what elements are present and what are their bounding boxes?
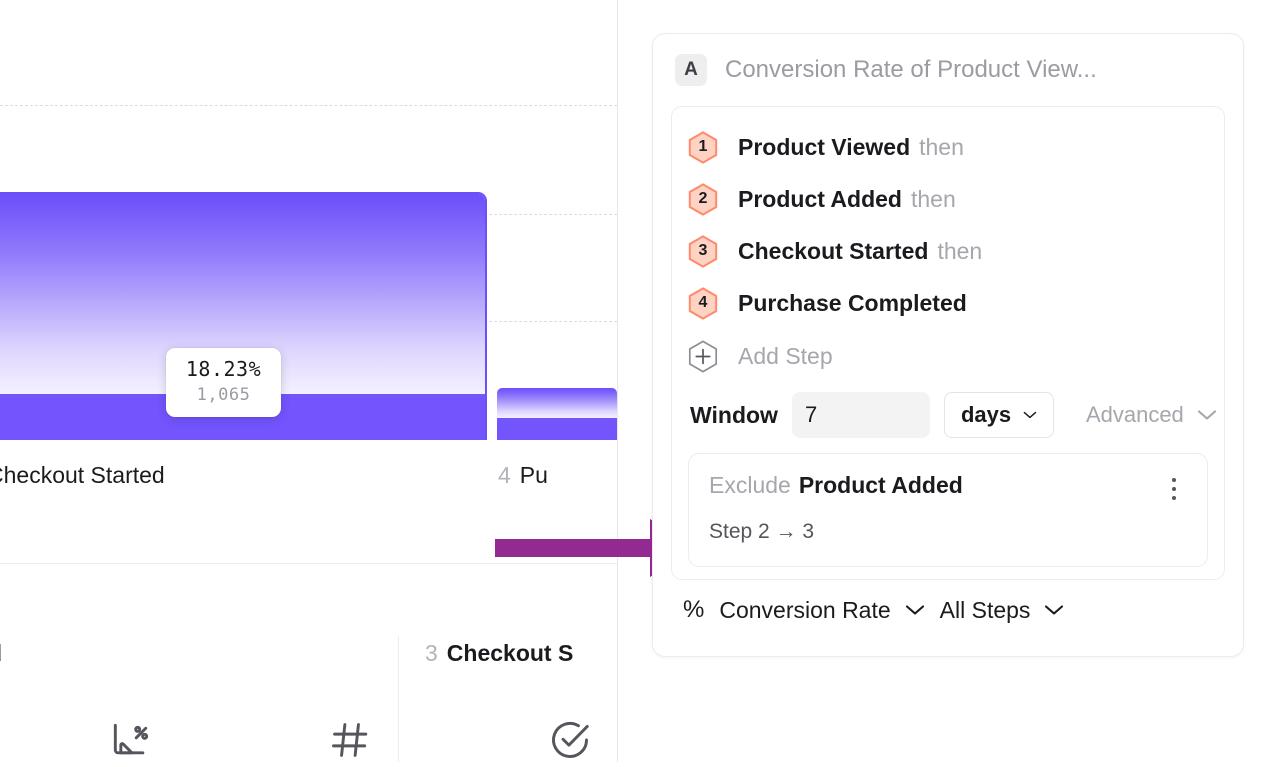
step-event-label: Purchase Completed bbox=[738, 290, 976, 317]
section-divider-vertical bbox=[398, 636, 399, 762]
query-title[interactable]: Conversion Rate of Product View... bbox=[725, 56, 1097, 84]
metric-label: Conversion Rate bbox=[719, 597, 890, 624]
advanced-label: Advanced bbox=[1086, 402, 1184, 428]
step-event-label: Product Viewedthen bbox=[738, 134, 964, 161]
step-row-4[interactable]: 4 Purchase Completed bbox=[688, 277, 1208, 329]
dot bbox=[1172, 487, 1176, 491]
step-hexagon-icon: 3 bbox=[688, 235, 718, 268]
scope-select[interactable]: All Steps bbox=[940, 597, 1065, 624]
lower-card-label-left: d bbox=[0, 640, 2, 667]
panel-footer: % Conversion Rate All Steps bbox=[671, 580, 1225, 640]
window-label: Window bbox=[690, 402, 778, 429]
scope-label: All Steps bbox=[940, 597, 1031, 624]
window-unit-select[interactable]: days bbox=[944, 392, 1054, 438]
funnel-bar-plot bbox=[0, 0, 617, 440]
advanced-toggle[interactable]: Advanced bbox=[1086, 402, 1217, 428]
step-event-name: Product Added bbox=[738, 186, 902, 212]
hash-icon[interactable] bbox=[328, 718, 372, 767]
step-connector: then bbox=[937, 238, 982, 264]
chevron-down-icon bbox=[1044, 604, 1064, 616]
lower-card-step-index: 3 bbox=[425, 640, 438, 666]
x-axis-label-text: Pu bbox=[520, 462, 548, 488]
exclude-prefix-label: Exclude bbox=[709, 472, 791, 498]
step-number: 1 bbox=[699, 139, 708, 155]
window-value-input[interactable] bbox=[792, 392, 930, 438]
tooltip-count: 1,065 bbox=[166, 385, 281, 405]
metric-select[interactable]: Conversion Rate bbox=[719, 597, 924, 624]
exclude-event-name: Product Added bbox=[799, 472, 963, 498]
add-step-hexagon-plus-icon bbox=[688, 340, 718, 373]
window-row: Window days Advanced bbox=[688, 383, 1208, 447]
x-axis-label-checkout-started: Checkout Started bbox=[0, 462, 165, 489]
dot bbox=[1172, 496, 1176, 500]
percent-icon: % bbox=[683, 596, 704, 624]
pane-divider bbox=[617, 0, 618, 762]
exclude-step-card[interactable]: ExcludeProduct Added Step 2 → 3 bbox=[688, 453, 1208, 567]
bar-gradient-segment bbox=[497, 388, 617, 418]
tooltip-percent: 18.23% bbox=[166, 358, 281, 381]
step-number: 4 bbox=[699, 295, 708, 311]
check-circle-icon[interactable] bbox=[548, 718, 592, 767]
series-badge[interactable]: A bbox=[675, 54, 707, 86]
x-axis-label-purchase-completed: 4Pu bbox=[498, 462, 548, 489]
exclude-card-header: ExcludeProduct Added bbox=[709, 472, 1187, 500]
step-event-label: Checkout Startedthen bbox=[738, 238, 982, 265]
add-step-label: Add Step bbox=[738, 343, 833, 370]
x-axis-step-index: 4 bbox=[498, 462, 511, 488]
window-unit-label: days bbox=[961, 402, 1011, 428]
step-hexagon-icon: 2 bbox=[688, 183, 718, 216]
step-row-1[interactable]: 1 Product Viewedthen bbox=[688, 121, 1208, 173]
step-connector: then bbox=[919, 134, 964, 160]
step-event-name: Product Viewed bbox=[738, 134, 910, 160]
step-hexagon-icon: 1 bbox=[688, 131, 718, 164]
section-divider-horizontal bbox=[0, 563, 617, 564]
dot bbox=[1172, 478, 1176, 482]
step-event-label: Product Addedthen bbox=[738, 186, 956, 213]
step-row-2[interactable]: 2 Product Addedthen bbox=[688, 173, 1208, 225]
query-builder-panel: A Conversion Rate of Product View... 1 P… bbox=[652, 33, 1244, 657]
chevron-down-icon bbox=[1197, 409, 1217, 421]
lower-card-label-text: Checkout S bbox=[447, 640, 574, 666]
percent-chart-icon[interactable] bbox=[108, 718, 152, 767]
chart-tooltip: 18.23% 1,065 bbox=[166, 348, 281, 417]
lower-card-label-right: 3Checkout S bbox=[425, 640, 573, 667]
step-event-name: Checkout Started bbox=[738, 238, 928, 264]
x-axis-label-text: Checkout Started bbox=[0, 462, 165, 488]
step-hexagon-icon: 4 bbox=[688, 287, 718, 320]
step-row-3[interactable]: 3 Checkout Startedthen bbox=[688, 225, 1208, 277]
bar-purchase-completed[interactable] bbox=[497, 388, 617, 440]
add-step-button[interactable]: Add Step bbox=[688, 329, 1208, 383]
exclude-step-range: Step 2 → 3 bbox=[709, 520, 1187, 544]
step-number: 3 bbox=[699, 243, 708, 259]
exclude-title: ExcludeProduct Added bbox=[709, 472, 1161, 499]
panel-header: A Conversion Rate of Product View... bbox=[671, 34, 1225, 106]
steps-card: 1 Product Viewedthen 2 Product Addedthen… bbox=[671, 106, 1225, 580]
step-number: 2 bbox=[699, 191, 708, 207]
chart-pane: 18.23% 1,065 Checkout Started 4Pu d 3Che… bbox=[0, 0, 617, 762]
step-event-name: Purchase Completed bbox=[738, 290, 967, 316]
chevron-down-icon bbox=[905, 604, 925, 616]
step-connector: then bbox=[911, 186, 956, 212]
exclude-overflow-menu-icon[interactable] bbox=[1161, 472, 1187, 500]
chevron-down-icon bbox=[1023, 409, 1037, 421]
bar-solid-segment bbox=[497, 418, 617, 440]
